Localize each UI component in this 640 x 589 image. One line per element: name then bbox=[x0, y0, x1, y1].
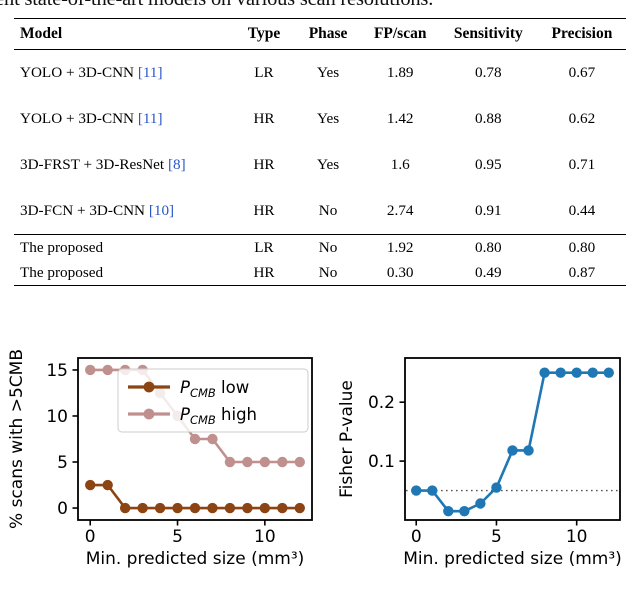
column-header-model: Model bbox=[14, 19, 233, 50]
data-point bbox=[102, 365, 112, 375]
y-axis-label: Fisher P-value bbox=[337, 380, 357, 498]
table-row: The proposed HR No 0.30 0.49 0.87 bbox=[14, 260, 626, 285]
data-point bbox=[242, 457, 252, 467]
results-table: Model Type Phase FP/scan Sensitivity Pre… bbox=[14, 18, 626, 285]
y-tick-label: 0 bbox=[57, 499, 68, 519]
data-point bbox=[155, 503, 165, 513]
x-tick-label: 10 bbox=[566, 527, 588, 547]
data-point bbox=[207, 503, 217, 513]
cell-model: 3D-FCN + 3D-CNN [10] bbox=[14, 188, 233, 235]
caption-text: ferent state-of-the-art models on variou… bbox=[0, 0, 433, 11]
data-point bbox=[207, 434, 217, 444]
model-name: 3D-FRST + 3D-ResNet bbox=[20, 156, 164, 173]
cell-fp-scan: 0.30 bbox=[362, 260, 439, 285]
cell-sensitivity: 0.95 bbox=[439, 142, 538, 188]
cell-precision: 0.87 bbox=[538, 260, 626, 285]
cell-fp-scan: 1.92 bbox=[362, 235, 439, 260]
cell-phase: No bbox=[295, 188, 362, 235]
data-point bbox=[588, 368, 598, 378]
legend-label-subscript: CMB bbox=[190, 386, 216, 400]
chart-legend: PCMB lowPCMB high bbox=[118, 369, 308, 432]
cell-sensitivity: 0.78 bbox=[439, 50, 538, 97]
cell-precision: 0.44 bbox=[538, 188, 626, 235]
data-point bbox=[172, 503, 182, 513]
x-axis-label: Min. predicted size (mm³) bbox=[403, 549, 622, 569]
data-point bbox=[190, 434, 200, 444]
table-row: The proposed LR No 1.92 0.80 0.80 bbox=[14, 235, 626, 260]
cell-precision: 0.67 bbox=[538, 50, 626, 97]
cell-phase: Yes bbox=[295, 142, 362, 188]
y-axis-label: % scans with >5CMB bbox=[7, 349, 27, 529]
data-point bbox=[459, 506, 469, 516]
legend-marker bbox=[144, 409, 155, 420]
results-table-container: Model Type Phase FP/scan Sensitivity Pre… bbox=[14, 18, 626, 286]
figure-caption-partial: ferent state-of-the-art models on variou… bbox=[0, 0, 640, 18]
cell-fp-scan: 1.42 bbox=[362, 96, 439, 142]
table-bottom-rule bbox=[14, 285, 626, 286]
cell-model: YOLO + 3D-CNN [11] bbox=[14, 96, 233, 142]
cell-model: 3D-FRST + 3D-ResNet [8] bbox=[14, 142, 233, 188]
cell-precision: 0.71 bbox=[538, 142, 626, 188]
data-point bbox=[225, 503, 235, 513]
figures-row: 0510051015Min. predicted size (mm³)% sca… bbox=[0, 348, 640, 589]
y-tick-label: 0.1 bbox=[368, 452, 395, 472]
y-tick-label: 0.2 bbox=[368, 393, 395, 413]
model-name: YOLO + 3D-CNN bbox=[20, 64, 134, 81]
cell-phase: No bbox=[295, 260, 362, 285]
column-header-sensitivity: Sensitivity bbox=[439, 19, 538, 50]
x-tick-label: 0 bbox=[411, 527, 422, 547]
x-tick-label: 5 bbox=[491, 527, 502, 547]
cell-sensitivity: 0.80 bbox=[439, 235, 538, 260]
chart-fisher-p-value: 05100.10.2Min. predicted size (mm³)Fishe… bbox=[330, 348, 640, 589]
cell-precision: 0.80 bbox=[538, 235, 626, 260]
cell-sensitivity: 0.49 bbox=[439, 260, 538, 285]
column-header-precision: Precision bbox=[538, 19, 626, 50]
x-tick-label: 0 bbox=[85, 527, 96, 547]
model-name: YOLO + 3D-CNN bbox=[20, 110, 134, 127]
cell-type: HR bbox=[233, 260, 294, 285]
citation-ref[interactable]: [8] bbox=[168, 156, 186, 173]
table-row: 3D-FRST + 3D-ResNet [8] HR Yes 1.6 0.95 … bbox=[14, 142, 626, 188]
data-point bbox=[137, 503, 147, 513]
legend-label-prefix: P bbox=[180, 405, 190, 424]
chart-svg-left: 0510051015Min. predicted size (mm³)% sca… bbox=[0, 348, 330, 589]
data-point bbox=[427, 485, 437, 495]
cell-precision: 0.62 bbox=[538, 96, 626, 142]
cell-model: YOLO + 3D-CNN [11] bbox=[14, 50, 233, 97]
column-header-phase: Phase bbox=[295, 19, 362, 50]
data-point bbox=[443, 506, 453, 516]
citation-ref[interactable]: [11] bbox=[138, 64, 163, 81]
cell-sensitivity: 0.91 bbox=[439, 188, 538, 235]
chart-svg-right: 05100.10.2Min. predicted size (mm³)Fishe… bbox=[330, 348, 640, 589]
legend-label-text: high bbox=[216, 405, 257, 424]
y-tick-label: 10 bbox=[46, 407, 68, 427]
column-header-type: Type bbox=[233, 19, 294, 50]
y-tick-label: 5 bbox=[57, 453, 68, 473]
y-tick-label: 15 bbox=[46, 361, 68, 381]
data-point bbox=[120, 503, 130, 513]
table-row: 3D-FCN + 3D-CNN [10] HR No 2.74 0.91 0.4… bbox=[14, 188, 626, 235]
column-header-fp-scan: FP/scan bbox=[362, 19, 439, 50]
data-point bbox=[571, 368, 581, 378]
cell-model: The proposed bbox=[14, 260, 233, 285]
data-point bbox=[85, 480, 95, 490]
data-point bbox=[491, 482, 501, 492]
data-point bbox=[277, 503, 287, 513]
data-point bbox=[411, 485, 421, 495]
cell-type: LR bbox=[233, 50, 294, 97]
cell-sensitivity: 0.88 bbox=[439, 96, 538, 142]
cell-type: HR bbox=[233, 142, 294, 188]
cell-phase: Yes bbox=[295, 96, 362, 142]
data-point bbox=[85, 365, 95, 375]
legend-label-subscript: CMB bbox=[190, 413, 216, 427]
data-point bbox=[295, 503, 305, 513]
cell-phase: Yes bbox=[295, 50, 362, 97]
x-axis-label: Min. predicted size (mm³) bbox=[86, 549, 305, 569]
data-point bbox=[555, 368, 565, 378]
cell-fp-scan: 1.89 bbox=[362, 50, 439, 97]
model-name: 3D-FCN + 3D-CNN bbox=[20, 202, 145, 219]
legend-marker bbox=[144, 382, 155, 393]
legend-label-text: low bbox=[216, 378, 249, 397]
x-tick-label: 5 bbox=[172, 527, 183, 547]
data-point bbox=[295, 457, 305, 467]
table-header-row: Model Type Phase FP/scan Sensitivity Pre… bbox=[14, 19, 626, 50]
cell-type: HR bbox=[233, 96, 294, 142]
data-point bbox=[102, 480, 112, 490]
cell-phase: No bbox=[295, 235, 362, 260]
cell-fp-scan: 2.74 bbox=[362, 188, 439, 235]
data-point bbox=[539, 368, 549, 378]
cell-model: The proposed bbox=[14, 235, 233, 260]
data-point bbox=[260, 457, 270, 467]
cell-type: HR bbox=[233, 188, 294, 235]
table-row: YOLO + 3D-CNN [11] HR Yes 1.42 0.88 0.62 bbox=[14, 96, 626, 142]
data-point bbox=[277, 457, 287, 467]
data-point bbox=[604, 368, 614, 378]
table-body: YOLO + 3D-CNN [11] LR Yes 1.89 0.78 0.67… bbox=[14, 50, 626, 286]
table-row: YOLO + 3D-CNN [11] LR Yes 1.89 0.78 0.67 bbox=[14, 50, 626, 97]
citation-ref[interactable]: [10] bbox=[149, 202, 174, 219]
x-tick-label: 10 bbox=[254, 527, 276, 547]
data-point bbox=[523, 445, 533, 455]
data-point bbox=[190, 503, 200, 513]
data-point bbox=[242, 503, 252, 513]
data-point bbox=[260, 503, 270, 513]
legend-label-prefix: P bbox=[180, 378, 190, 397]
data-point bbox=[507, 445, 517, 455]
data-point bbox=[225, 457, 235, 467]
citation-ref[interactable]: [11] bbox=[138, 110, 163, 127]
data-point bbox=[475, 498, 485, 508]
cell-type: LR bbox=[233, 235, 294, 260]
cell-fp-scan: 1.6 bbox=[362, 142, 439, 188]
chart-cmb-scan-percentage: 0510051015Min. predicted size (mm³)% sca… bbox=[0, 348, 330, 589]
